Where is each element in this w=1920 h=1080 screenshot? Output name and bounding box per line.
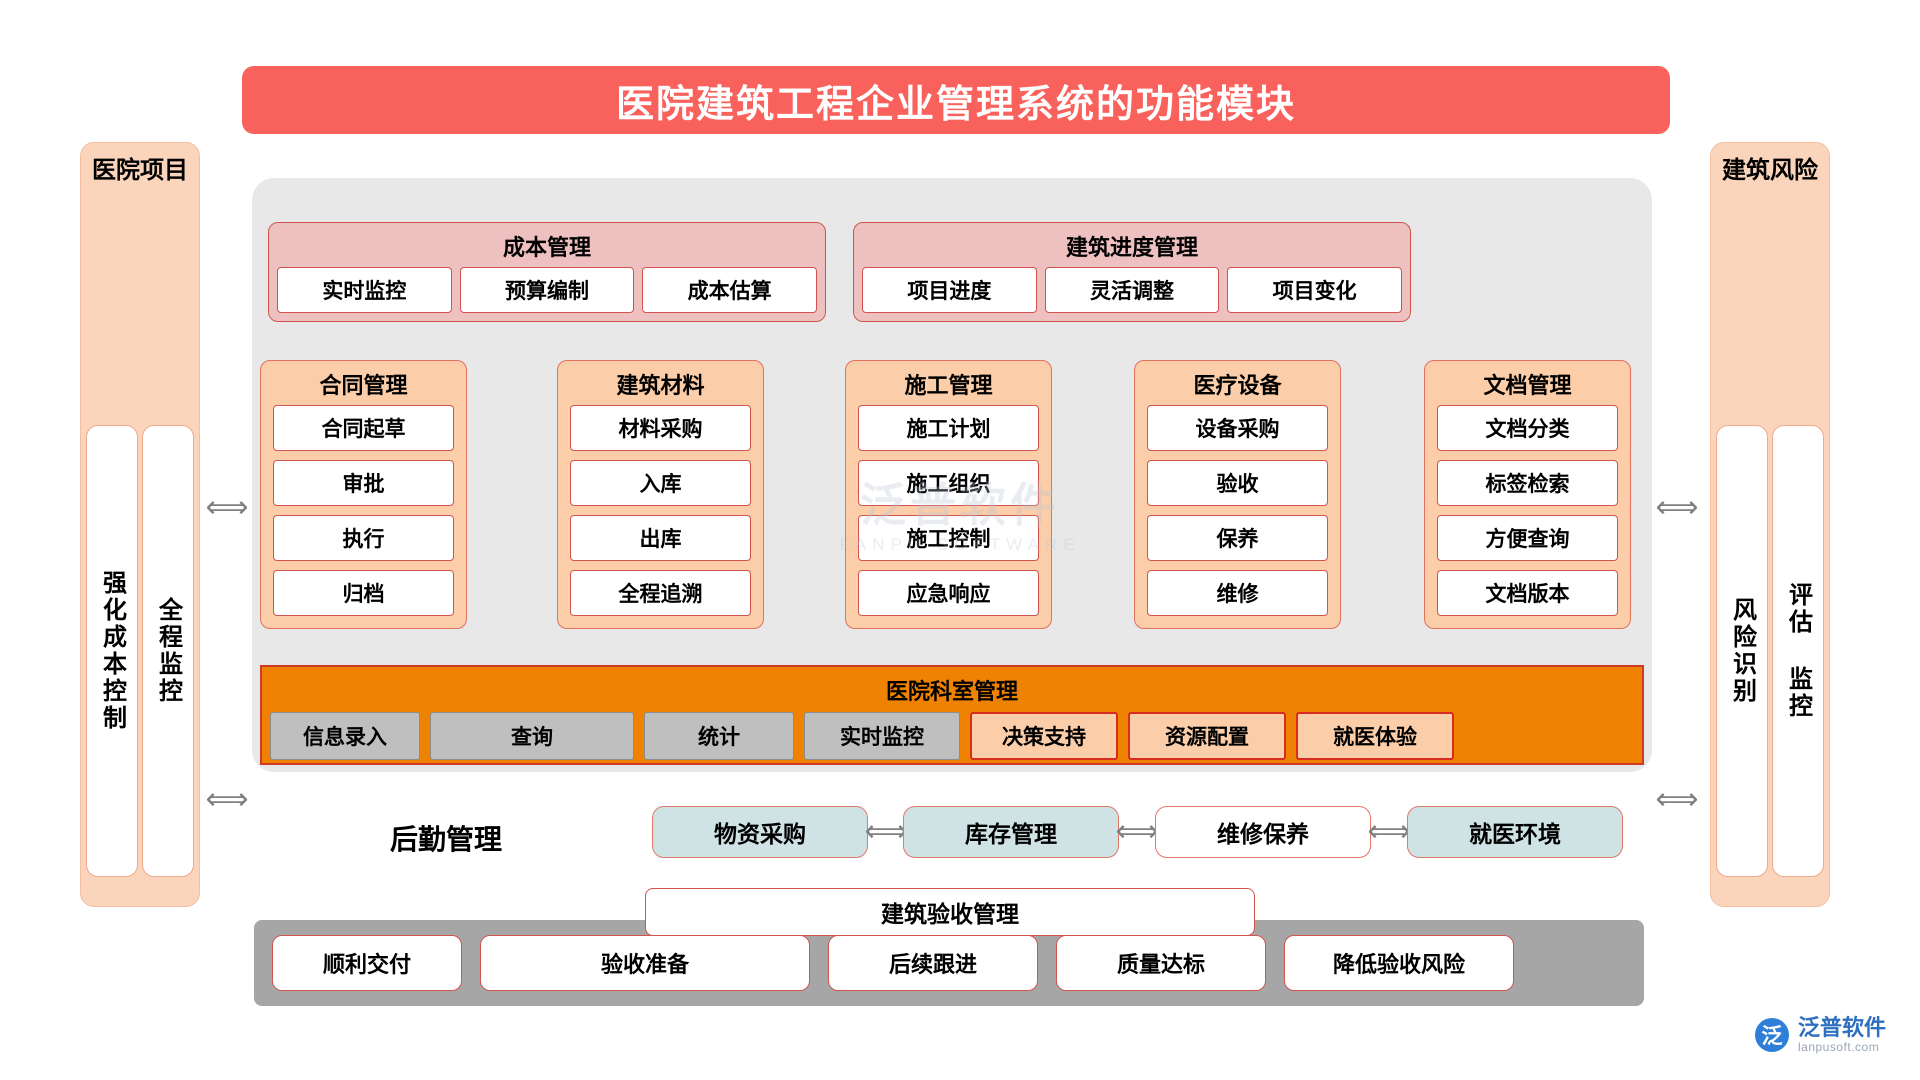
arrow-logistics-3: ⟺ [1371, 818, 1407, 846]
group-cost-management: 成本管理 实时监控 预算编制 成本估算 [268, 222, 826, 322]
arrow-left-lower: ⟺ [202, 785, 252, 815]
group-building-material-title: 建筑材料 [558, 361, 763, 405]
page-title-banner: 医院建筑工程企业管理系统的功能模块 [242, 66, 1670, 134]
group-building-material: 建筑材料 材料采购 入库 出库 全程追溯 [557, 360, 764, 629]
group-medical-device: 医疗设备 设备采购 验收 保养 维修 [1134, 360, 1341, 629]
chip-supplies-purchase[interactable]: 物资采购 [652, 806, 868, 858]
chip-dept-realtime[interactable]: 实时监控 [804, 712, 960, 760]
group-document-management-title: 文档管理 [1425, 361, 1630, 405]
arrow-right-lower: ⟺ [1652, 785, 1702, 815]
chip-device-repair[interactable]: 维修 [1147, 570, 1328, 616]
acceptance-management-title: 建筑验收管理 [645, 888, 1255, 936]
brand-logo-icon: 泛 [1755, 1018, 1789, 1052]
chip-material-inbound[interactable]: 入库 [570, 460, 751, 506]
chip-cost-estimate[interactable]: 成本估算 [642, 267, 817, 313]
group-construction-management: 施工管理 施工计划 施工组织 施工控制 应急响应 [845, 360, 1052, 629]
chip-care-experience[interactable]: 就医体验 [1296, 712, 1454, 760]
diagram-canvas: 医院建筑工程企业管理系统的功能模块 医院项目 强化成本控制 全程监控 建筑风险 … [0, 0, 1920, 1080]
department-management-title: 医院科室管理 [262, 667, 1642, 706]
group-progress-management-items: 项目进度 灵活调整 项目变化 [854, 267, 1410, 321]
group-medical-device-title: 医疗设备 [1135, 361, 1340, 405]
arrow-left-upper: ⟺ [202, 493, 252, 523]
chip-contract-archive[interactable]: 归档 [273, 570, 454, 616]
chip-material-traceability[interactable]: 全程追溯 [570, 570, 751, 616]
group-cost-management-items: 实时监控 预算编制 成本估算 [269, 267, 825, 321]
group-document-management: 文档管理 文档分类 标签检索 方便查询 文档版本 [1424, 360, 1631, 629]
chip-contract-execute[interactable]: 执行 [273, 515, 454, 561]
arrow-right-upper: ⟺ [1652, 493, 1702, 523]
department-management-items: 信息录入 查询 统计 实时监控 决策支持 资源配置 就医体验 [262, 706, 1642, 760]
left-pillar-title: 医院项目 [89, 157, 191, 185]
chip-info-entry[interactable]: 信息录入 [270, 712, 420, 760]
department-management-bar: 医院科室管理 信息录入 查询 统计 实时监控 决策支持 资源配置 就医体验 [260, 665, 1644, 765]
chip-inventory-management[interactable]: 库存管理 [903, 806, 1119, 858]
arrow-logistics-2: ⟺ [1119, 818, 1155, 846]
chip-care-environment[interactable]: 就医环境 [1407, 806, 1623, 858]
right-pillar-item-assess-monitor[interactable]: 评估 监控 [1772, 425, 1824, 877]
chip-doc-classify[interactable]: 文档分类 [1437, 405, 1618, 451]
chip-quality-standard[interactable]: 质量达标 [1056, 935, 1266, 991]
chip-followup[interactable]: 后续跟进 [828, 935, 1038, 991]
group-contract-management-title: 合同管理 [261, 361, 466, 405]
chip-smooth-delivery[interactable]: 顺利交付 [272, 935, 462, 991]
logistics-label: 后勤管理 [390, 818, 502, 858]
chip-construction-control[interactable]: 施工控制 [858, 515, 1039, 561]
chip-device-acceptance[interactable]: 验收 [1147, 460, 1328, 506]
chip-doc-tag-search[interactable]: 标签检索 [1437, 460, 1618, 506]
brand-logo: 泛 泛普软件 lanpusoft.com [1755, 1016, 1886, 1054]
group-contract-management: 合同管理 合同起草 审批 执行 归档 [260, 360, 467, 629]
chip-emergency-response[interactable]: 应急响应 [858, 570, 1039, 616]
group-medical-device-items: 设备采购 验收 保养 维修 [1135, 405, 1340, 628]
chip-flexible-adjust[interactable]: 灵活调整 [1045, 267, 1220, 313]
group-progress-management: 建筑进度管理 项目进度 灵活调整 项目变化 [853, 222, 1411, 322]
chip-construction-plan[interactable]: 施工计划 [858, 405, 1039, 451]
group-progress-management-title: 建筑进度管理 [854, 223, 1410, 267]
left-pillar-item-full-monitoring[interactable]: 全程监控 [142, 425, 194, 877]
chip-device-maintenance[interactable]: 保养 [1147, 515, 1328, 561]
chip-reduce-risk[interactable]: 降低验收风险 [1284, 935, 1514, 991]
group-cost-management-title: 成本管理 [269, 223, 825, 267]
brand-logo-url: lanpusoft.com [1798, 1041, 1886, 1054]
chip-project-change[interactable]: 项目变化 [1227, 267, 1402, 313]
chip-cost-realtime-monitor[interactable]: 实时监控 [277, 267, 452, 313]
chip-material-outbound[interactable]: 出库 [570, 515, 751, 561]
group-construction-management-title: 施工管理 [846, 361, 1051, 405]
page-title: 医院建筑工程企业管理系统的功能模块 [616, 73, 1296, 128]
chip-statistics[interactable]: 统计 [644, 712, 794, 760]
right-pillar-title: 建筑风险 [1719, 157, 1821, 185]
chip-query[interactable]: 查询 [430, 712, 634, 760]
group-document-management-items: 文档分类 标签检索 方便查询 文档版本 [1425, 405, 1630, 628]
chip-acceptance-prep[interactable]: 验收准备 [480, 935, 810, 991]
chip-contract-approval[interactable]: 审批 [273, 460, 454, 506]
chip-resource-config[interactable]: 资源配置 [1128, 712, 1286, 760]
chip-device-purchase[interactable]: 设备采购 [1147, 405, 1328, 451]
brand-logo-name: 泛普软件 [1798, 1016, 1886, 1041]
chip-decision-support[interactable]: 决策支持 [970, 712, 1118, 760]
chip-cost-budget-prep[interactable]: 预算编制 [460, 267, 635, 313]
chip-doc-version[interactable]: 文档版本 [1437, 570, 1618, 616]
right-pillar-item-risk-identify[interactable]: 风险识别 [1716, 425, 1768, 877]
group-contract-management-items: 合同起草 审批 执行 归档 [261, 405, 466, 628]
arrow-logistics-1: ⟺ [868, 818, 904, 846]
chip-material-purchase[interactable]: 材料采购 [570, 405, 751, 451]
group-building-material-items: 材料采购 入库 出库 全程追溯 [558, 405, 763, 628]
chip-project-progress[interactable]: 项目进度 [862, 267, 1037, 313]
chip-construction-org[interactable]: 施工组织 [858, 460, 1039, 506]
left-pillar-item-cost-control[interactable]: 强化成本控制 [86, 425, 138, 877]
group-construction-management-items: 施工计划 施工组织 施工控制 应急响应 [846, 405, 1051, 628]
chip-doc-easy-query[interactable]: 方便查询 [1437, 515, 1618, 561]
chip-contract-draft[interactable]: 合同起草 [273, 405, 454, 451]
chip-repair-maintenance[interactable]: 维修保养 [1155, 806, 1371, 858]
